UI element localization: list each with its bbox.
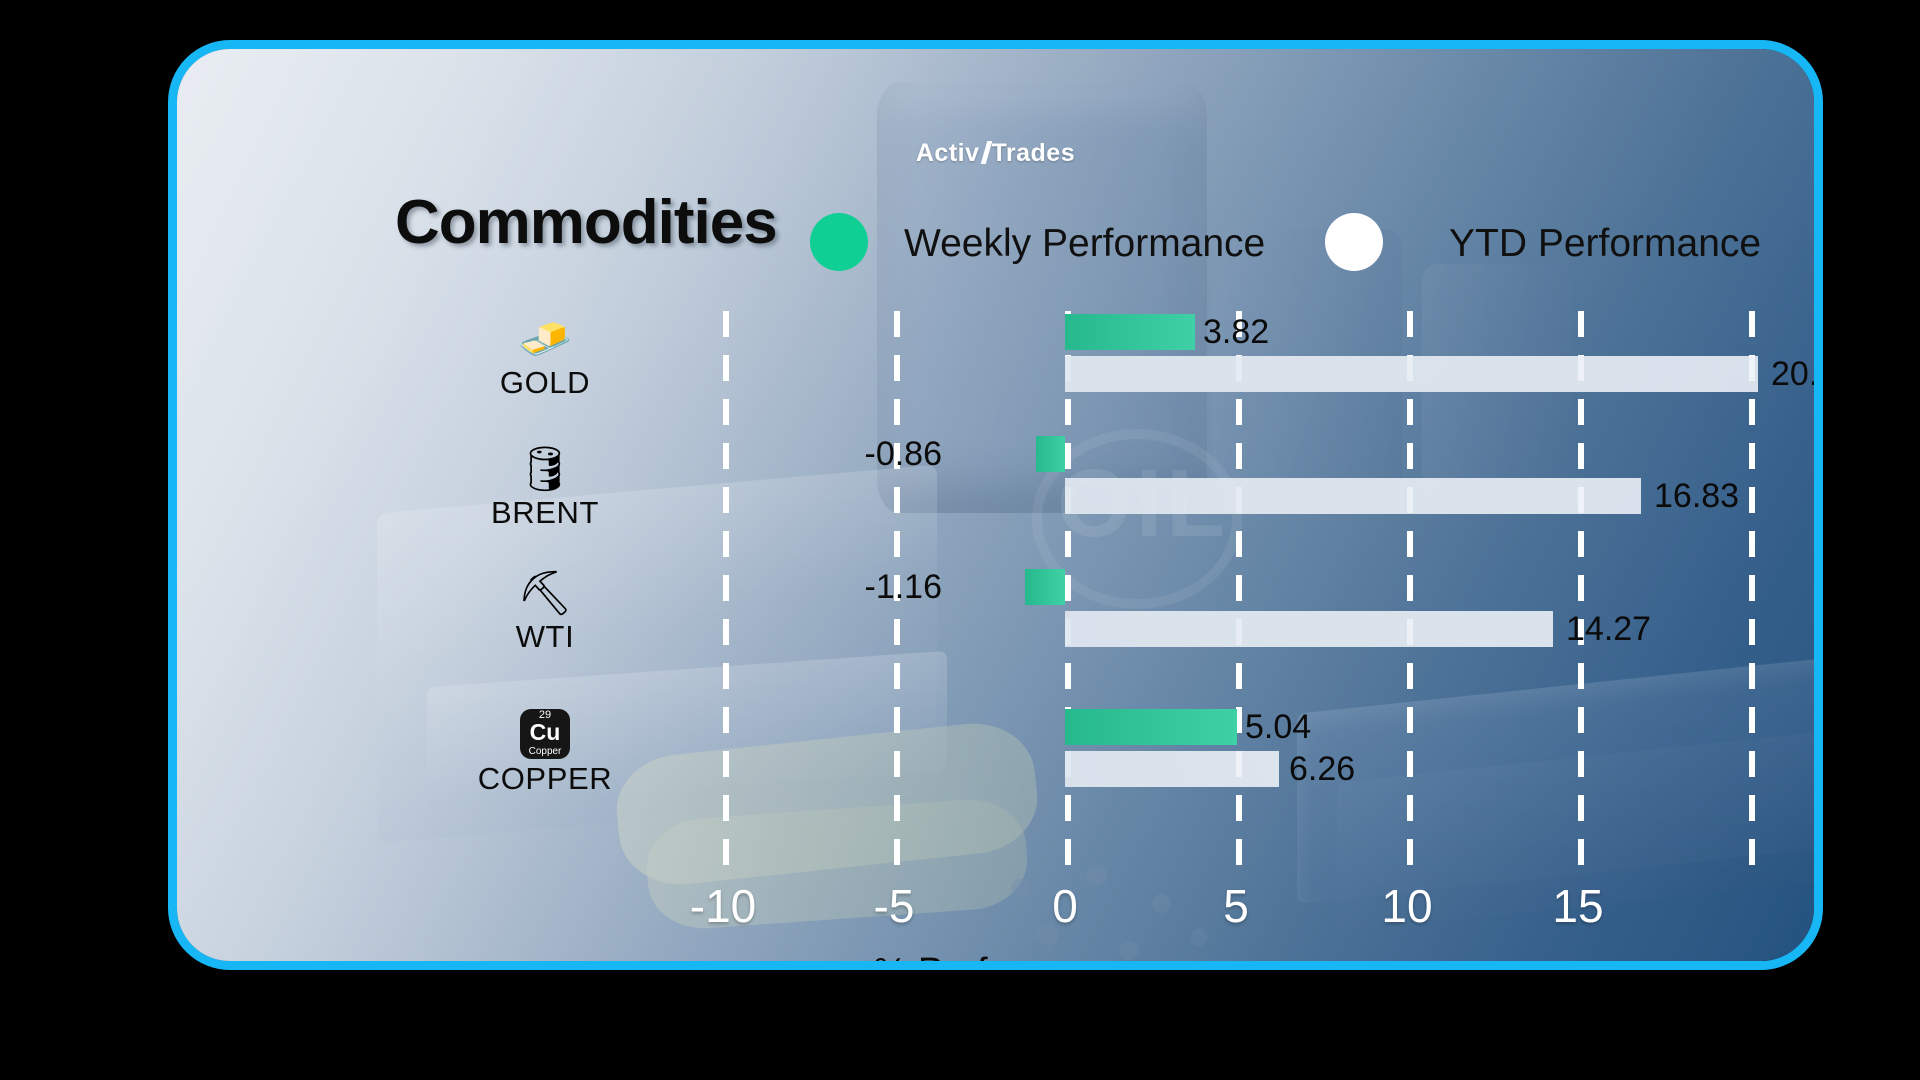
row-name-copper: COPPER (435, 761, 655, 797)
gridline--10 (723, 311, 729, 868)
oil-pumpjack-icon: ⛏ (435, 571, 655, 617)
bar-weekly-brent (1036, 436, 1065, 472)
gridline-20 (1749, 311, 1755, 868)
value-weekly-wti: -1.16 (865, 569, 943, 605)
value-ytd-copper: 6.26 (1289, 751, 1355, 787)
x-tick-10: 10 (1381, 879, 1432, 933)
chart-header: Commodities Weekly Performance YTD Perfo… (177, 199, 1814, 269)
legend-label-ytd: YTD Performance (1449, 222, 1761, 266)
oil-barrels-icon: 🛢 (435, 447, 655, 493)
row-name-gold: GOLD (435, 365, 655, 401)
screenshot-root: OIL ActivTrades Commodities Weekly Perfo… (0, 0, 1920, 1080)
value-ytd-wti: 14.27 (1566, 611, 1651, 647)
plot-area: 🧈 GOLD 3.82 20.24 🛢 BRENT -0.86 16.83 ⛏ … (177, 299, 1823, 879)
row-name-brent: BRENT (435, 495, 655, 531)
x-tick-5: 5 (1223, 879, 1249, 933)
row-label-copper: 29CuCopper COPPER (435, 709, 655, 797)
bar-ytd-brent (1065, 478, 1641, 514)
bar-weekly-copper (1065, 709, 1237, 745)
legend-marker-ytd (1325, 213, 1383, 271)
copper-symbol: Cu (520, 720, 570, 744)
copper-element-badge: 29CuCopper (520, 709, 570, 759)
commodities-performance-card: OIL ActivTrades Commodities Weekly Perfo… (168, 40, 1823, 970)
legend-label-weekly: Weekly Performance (904, 222, 1265, 266)
logo-text-trades: Trades (992, 139, 1076, 167)
x-tick--5: -5 (874, 879, 915, 933)
gridline-10 (1407, 311, 1413, 868)
gold-bars-icon: 🧈 (435, 317, 655, 363)
row-name-wti: WTI (435, 619, 655, 655)
page-title: Commodities (395, 187, 777, 258)
gridline-15 (1578, 311, 1584, 868)
value-ytd-gold: 20.24 (1771, 356, 1823, 392)
logo-text-activ: Activ (916, 139, 980, 167)
x-axis: -10 -5 0 5 10 15 % Performance (177, 879, 1823, 970)
bar-weekly-gold (1065, 314, 1195, 350)
bar-ytd-gold (1065, 356, 1758, 392)
copper-element-icon: 29CuCopper (435, 709, 655, 759)
x-tick--10: -10 (690, 879, 756, 933)
bar-ytd-wti (1065, 611, 1553, 647)
value-weekly-copper: 5.04 (1245, 709, 1311, 745)
x-axis-title: % Performance (177, 951, 1823, 970)
legend-marker-weekly (810, 213, 868, 271)
copper-element-word: Copper (520, 746, 570, 757)
activtrades-logo: ActivTrades (177, 139, 1814, 168)
value-weekly-gold: 3.82 (1203, 314, 1269, 350)
x-tick-15: 15 (1552, 879, 1603, 933)
row-label-wti: ⛏ WTI (435, 571, 655, 655)
value-ytd-brent: 16.83 (1654, 478, 1739, 514)
value-weekly-brent: -0.86 (865, 436, 943, 472)
logo-slash-icon (980, 141, 992, 164)
bar-ytd-copper (1065, 751, 1279, 787)
bar-weekly-wti (1025, 569, 1065, 605)
row-label-brent: 🛢 BRENT (435, 447, 655, 531)
row-label-gold: 🧈 GOLD (435, 317, 655, 401)
x-tick-0: 0 (1052, 879, 1078, 933)
